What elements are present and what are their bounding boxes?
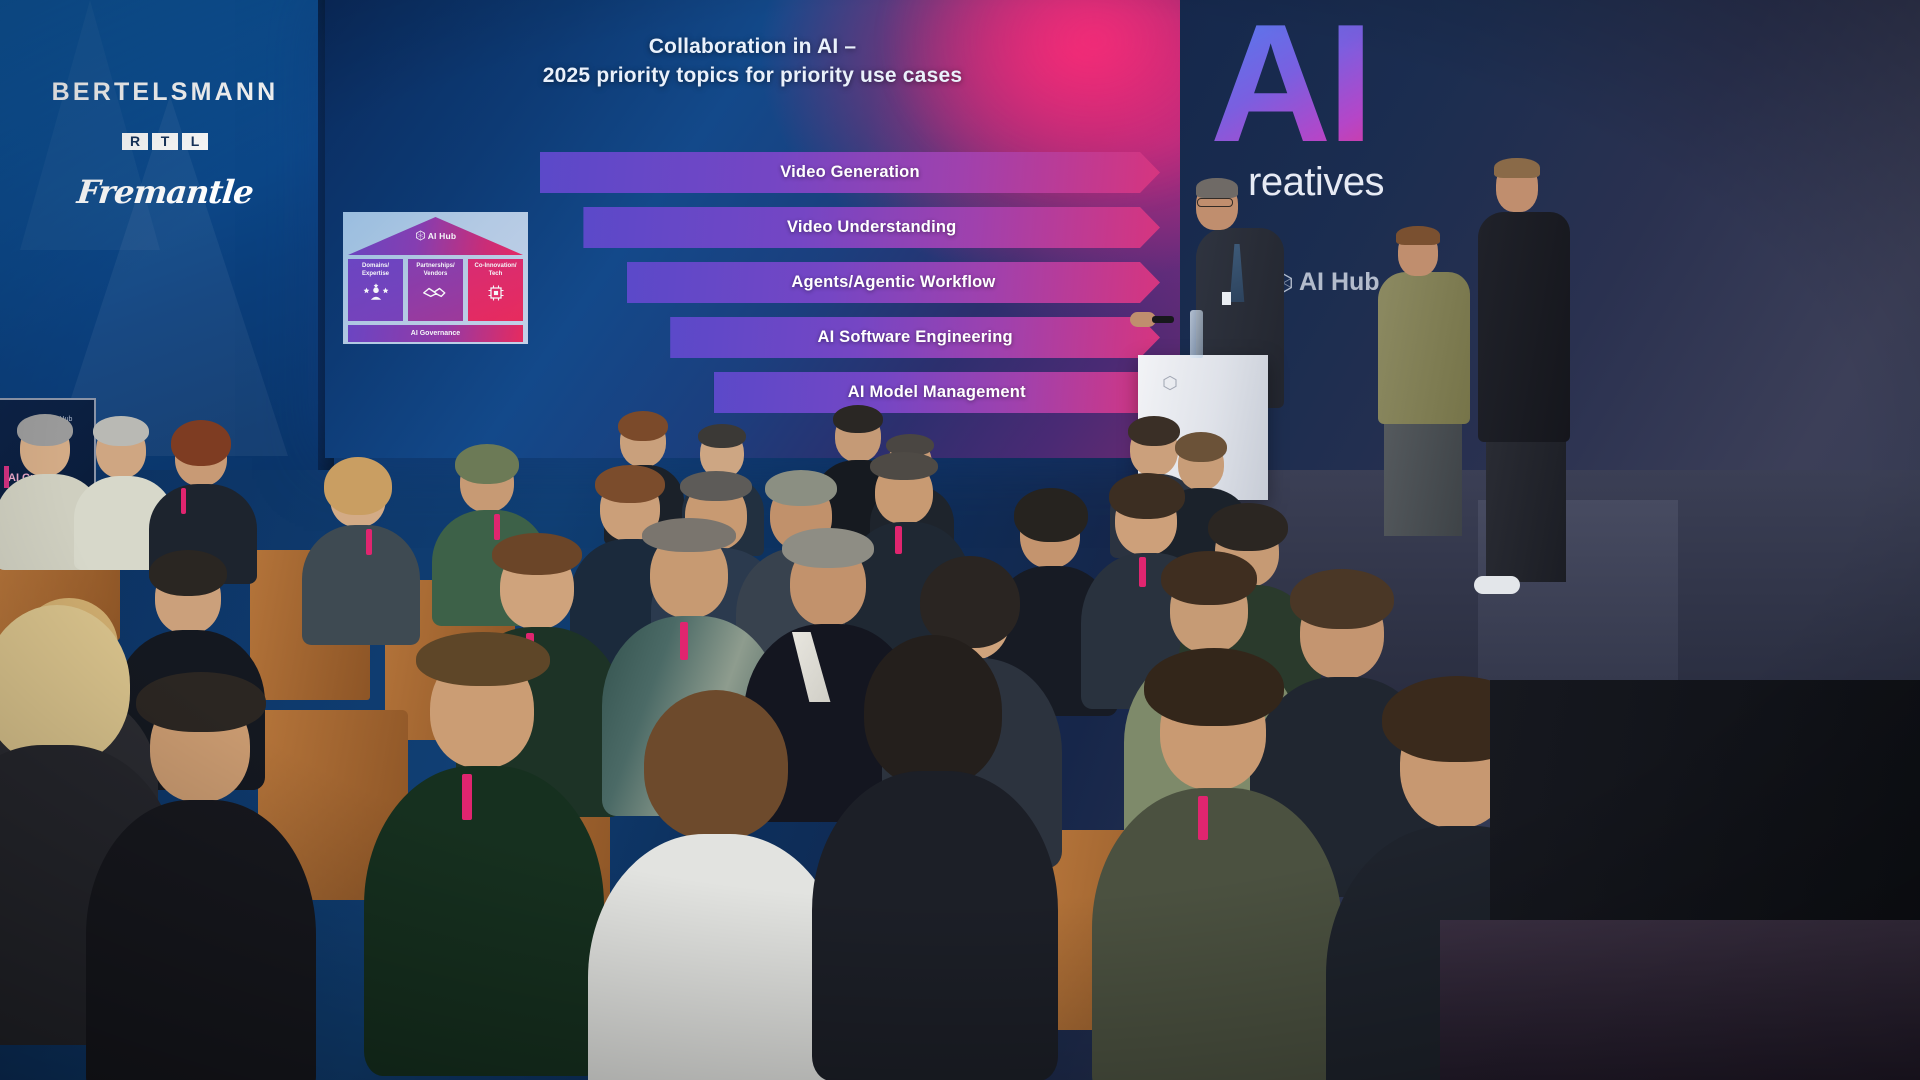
glasses-icon bbox=[1197, 198, 1233, 207]
fremantle-logo: Fremantle bbox=[0, 173, 332, 211]
brand-logo-stack: BERTELSMANN R T L Fremantle bbox=[0, 78, 330, 211]
slide-title: Collaboration in AI – 2025 priority topi… bbox=[325, 32, 1180, 90]
topic-arrow-ai-software-engineering[interactable]: AI Software Engineering bbox=[670, 317, 1160, 358]
ai-creatives-brand-mark: AI bbox=[1210, 8, 1440, 158]
foreground-carpet bbox=[1440, 920, 1920, 1080]
person-dark-hair bbox=[1494, 158, 1540, 178]
ai-creatives-brand-sub: reatives bbox=[1248, 160, 1384, 205]
chip-icon bbox=[486, 283, 506, 308]
presenter-badge bbox=[1222, 292, 1231, 305]
rtl-letter-l: L bbox=[182, 133, 208, 150]
clicker-remote bbox=[1152, 316, 1174, 323]
arrow-row: Agents/Agentic Workflow bbox=[540, 258, 1160, 313]
topic-arrow-video-generation[interactable]: Video Generation bbox=[540, 152, 1160, 193]
ai-hub-roof: AI Hub bbox=[348, 217, 523, 255]
topic-arrow-agents-agentic-workflow[interactable]: Agents/Agentic Workflow bbox=[627, 262, 1160, 303]
ai-hub-column-label: Domains/Expertise bbox=[362, 263, 389, 278]
ai-creatives-logo: AI reatives bbox=[1210, 8, 1440, 218]
ai-hub-column-partnerships: Partnerships/Vendors bbox=[408, 259, 463, 321]
arrow-row: Video Understanding bbox=[540, 203, 1160, 258]
people-stars-icon bbox=[363, 283, 389, 306]
arrow-row: Video Generation bbox=[540, 148, 1160, 203]
ai-hub-polygon-icon bbox=[415, 230, 426, 241]
ai-hub-columns: Domains/Expertise Partnerships/Vendors bbox=[348, 259, 523, 321]
slide-title-line-2: 2025 priority topics for priority use ca… bbox=[325, 61, 1180, 90]
rtl-logo: R T L bbox=[122, 133, 208, 150]
water-bottle bbox=[1190, 310, 1203, 358]
slide-title-line-1: Collaboration in AI – bbox=[325, 32, 1180, 61]
arrow-row: AI Software Engineering bbox=[540, 313, 1160, 368]
conference-stage-scene: BERTELSMANN R T L Fremantle AI Hub AI Cr… bbox=[0, 0, 1920, 1080]
ai-hub-base-governance: AI Governance bbox=[348, 325, 523, 342]
rtl-letter-t: T bbox=[152, 133, 178, 150]
wall-ai-hub-label: AI Hub bbox=[1272, 268, 1380, 297]
ai-hub-column-domains: Domains/Expertise bbox=[348, 259, 403, 321]
ai-hub-column-label: Co-Innovation/ Tech bbox=[468, 263, 523, 278]
presenter-hair bbox=[1196, 178, 1238, 198]
ai-hub-diagram: AI Hub Domains/Expertise bbox=[343, 212, 528, 344]
ai-hub-roof-text: AI Hub bbox=[428, 231, 457, 241]
ai-hub-roof-label: AI Hub bbox=[348, 230, 523, 241]
audience-crowd bbox=[0, 380, 1920, 1080]
person-olive-hair bbox=[1396, 226, 1440, 245]
wall-ai-hub-text: AI Hub bbox=[1299, 268, 1380, 297]
ai-hub-column-label: Partnerships/Vendors bbox=[416, 263, 454, 278]
ai-hub-column-coinnovation: Co-Innovation/ Tech bbox=[468, 259, 523, 321]
rtl-letter-r: R bbox=[122, 133, 148, 150]
bertelsmann-logo: BERTELSMANN bbox=[0, 78, 330, 107]
topic-arrow-video-understanding[interactable]: Video Understanding bbox=[583, 207, 1160, 248]
handshake-icon bbox=[422, 283, 450, 306]
